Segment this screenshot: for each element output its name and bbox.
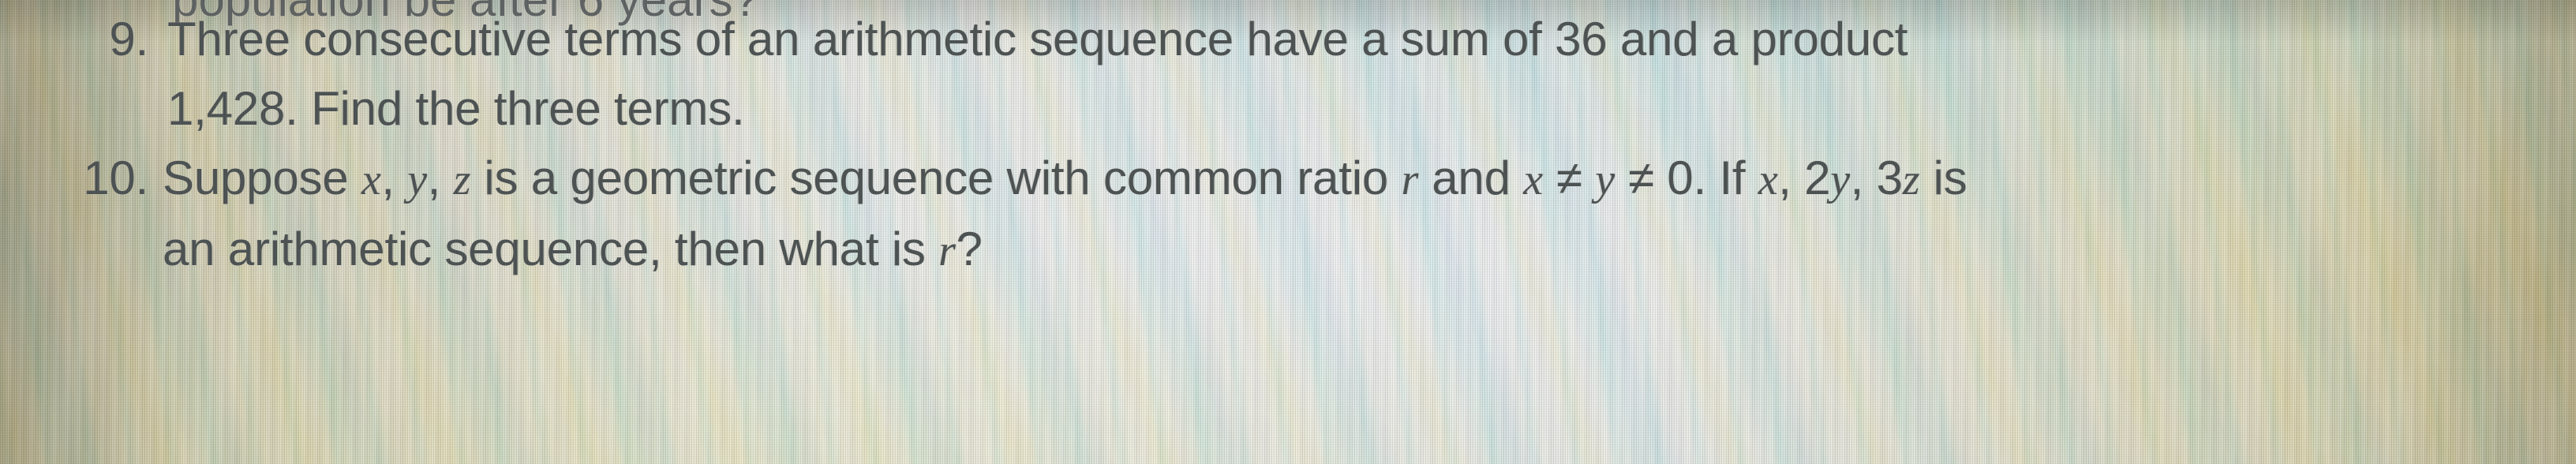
math-variable: x <box>1523 155 1543 204</box>
math-variable: r <box>1401 155 1418 204</box>
math-variable: r <box>938 226 956 275</box>
problem-9-line-2: 1,428. Find the three terms. <box>167 74 1908 144</box>
math-variable: z <box>1903 155 1920 204</box>
problem-10: 10. Suppose x, y, z is a geometric seque… <box>46 144 1967 286</box>
math-variable: y <box>1595 155 1615 204</box>
problem-9: 9. Three consecutive terms of an arithme… <box>76 5 1908 144</box>
problem-9-body: Three consecutive terms of an arithmetic… <box>167 5 1908 144</box>
problem-9-number: 9. <box>76 5 148 74</box>
worksheet-text: population be after 6 years? 9. Three co… <box>0 0 2576 464</box>
problem-9-line-1: Three consecutive terms of an arithmetic… <box>167 5 1908 74</box>
math-variable: z <box>454 155 471 204</box>
problem-10-line-2: an arithmetic sequence, then what is r? <box>163 215 1967 286</box>
problem-10-line-1: Suppose x, y, z is a geometric sequence … <box>163 144 1967 215</box>
problem-10-body: Suppose x, y, z is a geometric sequence … <box>163 144 1967 286</box>
math-variable: y <box>407 155 427 204</box>
math-variable: x <box>361 155 381 204</box>
math-variable: x <box>1758 155 1778 204</box>
screen-photo: population be after 6 years? 9. Three co… <box>0 0 2576 464</box>
math-variable: y <box>1830 155 1850 204</box>
problem-10-number: 10. <box>46 144 148 213</box>
